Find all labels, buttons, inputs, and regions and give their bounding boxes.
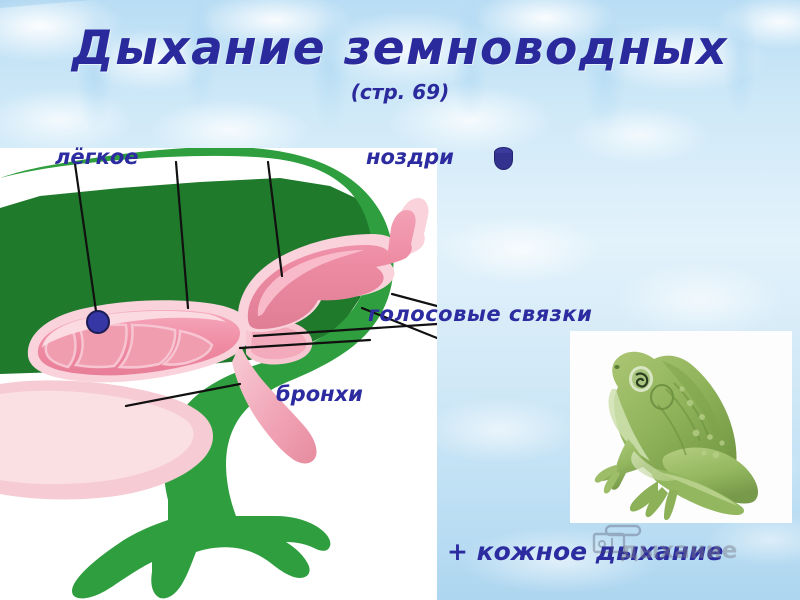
lung-dot-marker <box>86 310 110 334</box>
skin-breathing-caption: + кожное дыхание <box>447 537 723 566</box>
frog-nostril <box>614 365 619 369</box>
frog-illustration-svg <box>570 331 792 523</box>
label-vocal-cords: голосовые связки <box>368 302 592 326</box>
slide-subtitle: (стр. 69) <box>0 80 800 104</box>
nostril-bullet-marker <box>494 147 513 171</box>
label-nostril: ноздри <box>366 145 454 169</box>
slide-title: Дыхание земноводных <box>0 24 800 74</box>
label-lung: лёгкое <box>55 145 139 169</box>
anatomy-diagram-panel <box>0 148 437 600</box>
bullet-body <box>494 153 513 170</box>
slide-canvas: Дыхание земноводных (стр. 69) <box>0 0 800 600</box>
title-block: Дыхание земноводных (стр. 69) <box>0 24 800 104</box>
frog-photo-panel <box>570 331 792 523</box>
label-bronchi: бронхи <box>276 382 363 406</box>
frog-anatomy-svg <box>0 148 437 600</box>
